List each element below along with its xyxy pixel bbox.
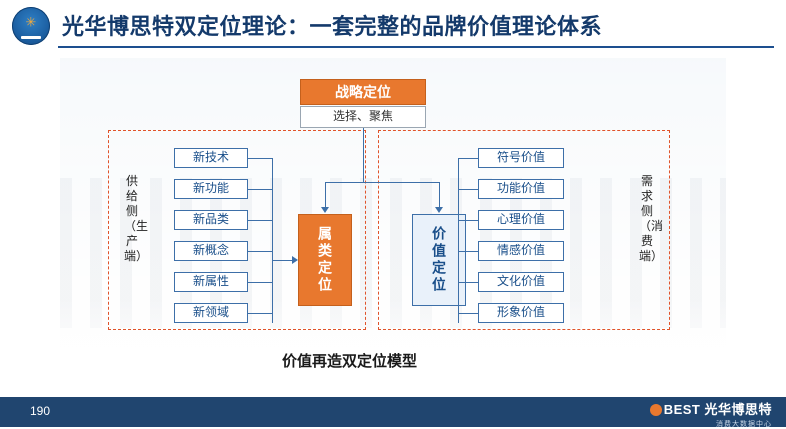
- best-logo-icon: [650, 404, 662, 416]
- supply-item-1: 新功能: [174, 179, 248, 199]
- demand-stub-1: [458, 189, 478, 190]
- supply-item-2: 新品类: [174, 210, 248, 230]
- supply-to-center-line: [272, 260, 292, 261]
- supply-to-center-arrow-icon: [292, 256, 298, 264]
- supply-stub-2: [248, 220, 272, 221]
- connector-left-drop: [325, 182, 326, 208]
- demand-item-2: 心理价值: [478, 210, 564, 230]
- connector-trunk-vertical: [363, 128, 364, 182]
- demand-stub-4: [458, 282, 478, 283]
- supply-side-label: 供给侧（生产端）: [124, 174, 140, 264]
- diagram-caption: 价值再造双定位模型: [282, 350, 417, 371]
- demand-item-1: 功能价值: [478, 179, 564, 199]
- demand-item-4: 文化价值: [478, 272, 564, 292]
- category-positioning-box: 属类定位: [298, 214, 352, 306]
- demand-item-0: 符号价值: [478, 148, 564, 168]
- brand-block: BEST 光华博思特 消费大数据中心: [650, 399, 772, 429]
- supply-stub-4: [248, 282, 272, 283]
- brand-name: BEST 光华博思特: [650, 399, 772, 418]
- page-title: 光华博思特双定位理论：一套完整的品牌价值理论体系: [62, 9, 602, 41]
- connector-left-arrow-icon: [321, 207, 329, 213]
- supply-item-3: 新概念: [174, 241, 248, 261]
- connector-right-arrow-icon: [435, 207, 443, 213]
- supply-stub-3: [248, 251, 272, 252]
- strategy-subtitle-box: 选择、聚焦: [300, 106, 426, 128]
- company-emblem-icon: ✳: [12, 7, 50, 45]
- supply-stub-0: [248, 158, 272, 159]
- emblem-spark-icon: ✳: [26, 16, 37, 29]
- slide-footer: 190 BEST 光华博思特 消费大数据中心: [0, 397, 786, 427]
- supply-bus-line: [272, 158, 273, 323]
- connector-branch-horizontal: [325, 182, 439, 183]
- demand-stub-2: [458, 220, 478, 221]
- demand-item-5: 形象价值: [478, 303, 564, 323]
- demand-stub-0: [458, 158, 478, 159]
- supply-item-5: 新领域: [174, 303, 248, 323]
- supply-item-0: 新技术: [174, 148, 248, 168]
- demand-side-label: 需求侧（消费端）: [639, 174, 655, 264]
- supply-item-4: 新属性: [174, 272, 248, 292]
- brand-subtitle: 消费大数据中心: [650, 419, 772, 429]
- strategy-positioning-box: 战略定位: [300, 79, 426, 105]
- slide-header: ✳ 光华博思特双定位理论：一套完整的品牌价值理论体系: [0, 0, 786, 52]
- emblem-base-icon: [21, 36, 41, 39]
- header-divider: [58, 46, 774, 48]
- supply-stub-1: [248, 189, 272, 190]
- category-positioning-label: 属类定位: [317, 226, 333, 294]
- slide-body: 战略定位 选择、聚焦 属类定位 价值定位 供给侧（生产端） 需求侧（消费端） 新…: [0, 52, 786, 397]
- connector-right-drop: [439, 182, 440, 208]
- demand-stub-5: [458, 313, 478, 314]
- demand-item-3: 情感价值: [478, 241, 564, 261]
- value-positioning-label: 价值定位: [431, 226, 447, 294]
- demand-bus-line: [458, 158, 459, 323]
- demand-stub-3: [458, 251, 478, 252]
- page-number: 190: [30, 404, 50, 418]
- supply-stub-5: [248, 313, 272, 314]
